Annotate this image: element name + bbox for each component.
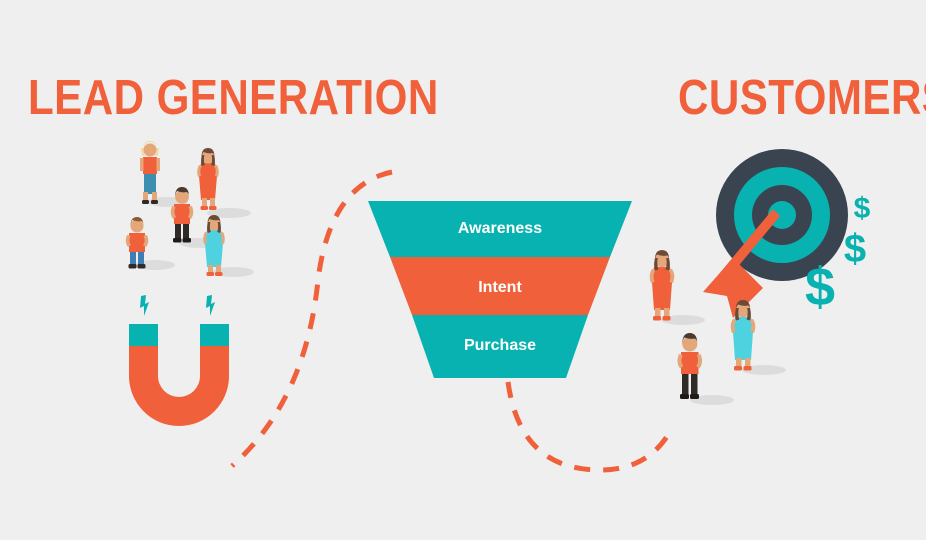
person-blonde-woman [140, 141, 160, 204]
dashed-flow-arc-icon [508, 382, 672, 470]
person-woman-orange-dress [650, 250, 675, 321]
magnet-icon [129, 295, 229, 426]
magnet-pole-right [200, 324, 229, 346]
dollar-sign-small: $ [854, 192, 871, 225]
magnet-pole-left [129, 324, 158, 346]
lead-people-group [126, 141, 254, 277]
dashed-flow-arc-icon [232, 172, 392, 466]
lightning-bolt-icon [206, 295, 215, 316]
person-woman-orange-dress [197, 148, 219, 210]
lightning-bolt-icon [140, 295, 149, 316]
person-man-orange-shirt [171, 187, 194, 243]
lead-generation-funnel-infographic: LEAD GENERATION CUSTOMERS [0, 0, 926, 540]
dollar-sign-large: $ [805, 257, 835, 317]
funnel-label-purchase: Purchase [400, 338, 600, 354]
person-man-orange-shirt [677, 333, 702, 399]
funnel-label-awareness: Awareness [400, 221, 600, 237]
person-woman-cyan-dress [203, 215, 225, 276]
funnel-label-intent: Intent [400, 280, 600, 296]
dollar-sign-medium: $ [844, 227, 866, 271]
illustration-layer: $ $ $ [0, 0, 926, 540]
